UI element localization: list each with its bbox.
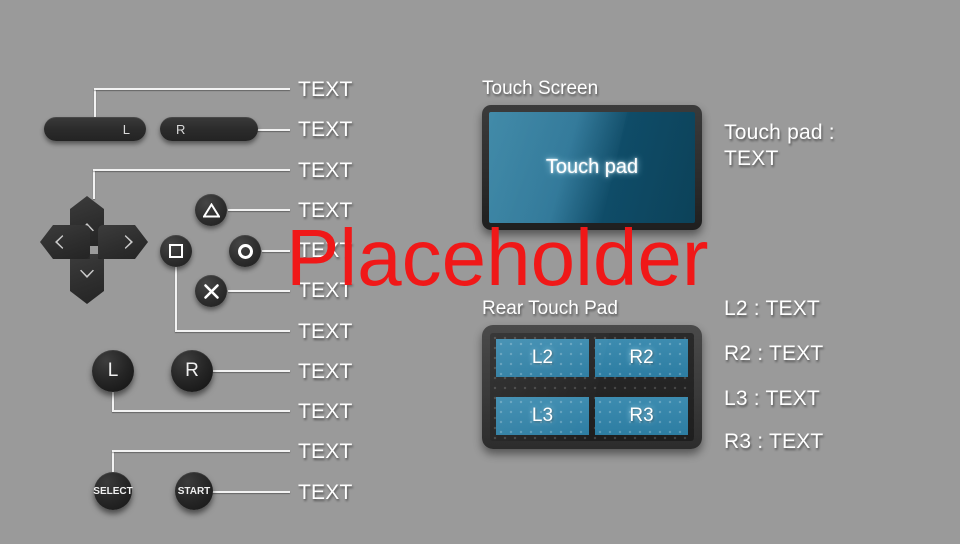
rear-pad-quadrant-r2[interactable]: R2	[595, 339, 688, 377]
touch-screen-pad-label: Touch pad	[546, 156, 638, 179]
callout-label-square: TEXT	[298, 320, 352, 344]
connector-shoulder-l-horizontal	[94, 88, 290, 90]
callout-label-shoulder-r: TEXT	[298, 118, 352, 142]
callout-label-shoulder-l: TEXT	[298, 78, 352, 102]
connector-start	[212, 491, 290, 493]
controller-mapping-diagram: L R	[0, 0, 960, 544]
callout-label-analog-r: TEXT	[298, 360, 352, 384]
callout-label-start: TEXT	[298, 481, 352, 505]
select-button[interactable]: SELECT	[94, 472, 132, 510]
rear-pad-info-r2: R2 : TEXT	[724, 342, 823, 366]
rear-pad-quadrant-l2[interactable]: L2	[496, 339, 589, 377]
square-icon	[168, 243, 184, 259]
connector-analog-l-vertical	[112, 392, 114, 411]
callout-label-analog-l: TEXT	[298, 400, 352, 424]
face-button-cross[interactable]	[195, 275, 227, 307]
dpad[interactable]	[40, 196, 148, 304]
connector-select-horizontal	[112, 450, 290, 452]
triangle-icon	[203, 203, 220, 218]
connector-shoulder-r	[256, 129, 290, 131]
touch-screen[interactable]: Touch pad	[482, 105, 702, 230]
rear-pad-info-r3: R3 : TEXT	[724, 430, 823, 454]
shoulder-button-r[interactable]: R	[160, 117, 258, 141]
rear-pad-quadrant-l2-label: L2	[532, 347, 553, 369]
connector-analog-l-horizontal	[112, 410, 290, 412]
connector-circle	[262, 250, 290, 252]
rear-touch-pad-surface[interactable]: L2 R2 L3 R3	[490, 333, 694, 441]
rear-pad-quadrant-l3[interactable]: L3	[496, 397, 589, 435]
analog-button-r-label: R	[185, 360, 199, 382]
callout-label-circle: TEXT	[298, 239, 352, 263]
rear-pad-info-l3: L3 : TEXT	[724, 387, 820, 411]
shoulder-button-l[interactable]: L	[44, 117, 146, 141]
select-button-label: SELECT	[93, 486, 132, 497]
touch-pad-info-line1: Touch pad :	[724, 121, 835, 145]
start-button[interactable]: START	[175, 472, 213, 510]
dpad-left-arrow-icon	[54, 234, 64, 250]
rear-pad-info-l2: L2 : TEXT	[724, 297, 820, 321]
connector-triangle	[228, 209, 290, 211]
connector-dpad-horizontal	[93, 169, 290, 171]
rear-pad-quadrant-r3[interactable]: R3	[595, 397, 688, 435]
callout-label-dpad: TEXT	[298, 159, 352, 183]
dpad-right[interactable]	[98, 225, 148, 259]
face-button-square[interactable]	[160, 235, 192, 267]
connector-square-vertical	[175, 262, 177, 331]
cross-icon	[203, 283, 220, 300]
circle-icon	[237, 243, 254, 260]
analog-button-l[interactable]: L	[92, 350, 134, 392]
rear-pad-quadrant-r2-label: R2	[629, 347, 653, 369]
dpad-right-arrow-icon	[124, 234, 134, 250]
touch-screen-title: Touch Screen	[482, 78, 598, 100]
connector-square-horizontal	[175, 330, 290, 332]
shoulder-button-l-label: L	[123, 122, 130, 137]
connector-cross	[228, 290, 290, 292]
dpad-left[interactable]	[40, 225, 90, 259]
connector-dpad-vertical	[93, 169, 95, 199]
connector-analog-r	[212, 370, 290, 372]
touch-screen-surface[interactable]: Touch pad	[489, 112, 695, 223]
analog-button-r[interactable]: R	[171, 350, 213, 392]
analog-button-l-label: L	[108, 360, 119, 382]
callout-label-triangle: TEXT	[298, 199, 352, 223]
face-button-circle[interactable]	[229, 235, 261, 267]
callout-label-select: TEXT	[298, 440, 352, 464]
rear-pad-quadrant-r3-label: R3	[629, 405, 653, 427]
callout-label-cross: TEXT	[298, 279, 352, 303]
dpad-down-arrow-icon	[79, 269, 95, 279]
rear-touch-pad[interactable]: L2 R2 L3 R3	[482, 325, 702, 449]
dpad-down[interactable]	[70, 254, 104, 304]
start-button-label: START	[178, 486, 211, 497]
rear-pad-quadrant-l3-label: L3	[532, 405, 553, 427]
shoulder-button-r-label: R	[176, 122, 185, 137]
rear-touch-pad-title: Rear Touch Pad	[482, 298, 618, 320]
touch-pad-info-line2: TEXT	[724, 147, 778, 171]
face-button-triangle[interactable]	[195, 194, 227, 226]
